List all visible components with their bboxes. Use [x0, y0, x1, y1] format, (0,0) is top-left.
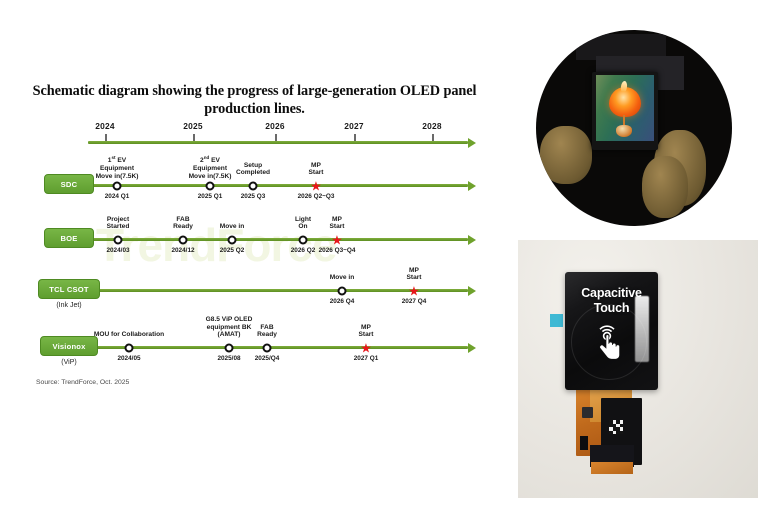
milestone-top-label: ProjectStarted — [107, 216, 130, 231]
right-hand-front — [642, 156, 688, 218]
milestone-dot-marker[interactable] — [179, 235, 188, 244]
row-axis-arrow — [468, 235, 476, 245]
source-note: Source: TrendForce, Oct. 2025 — [36, 379, 129, 386]
year-label: 2026 — [265, 121, 284, 131]
company-label-sdc[interactable]: SDC — [44, 174, 94, 194]
milestone-top-label: MPStart — [308, 162, 323, 177]
year-label: 2028 — [422, 121, 441, 131]
milestone-bottom-label: 2027 Q1 — [354, 355, 379, 362]
capacitive-touch-line1: Capacitive — [581, 286, 642, 300]
milestone-bottom-label: 2025/08 — [217, 355, 240, 362]
milestone-top-label: 2nd EVEquipmentMove in(7.5K) — [189, 154, 232, 180]
year-tick — [193, 134, 195, 141]
year-axis-arrow — [468, 138, 476, 148]
milestone-bottom-label: 2025/Q4 — [255, 355, 280, 362]
touch-display-screen: Capacitive Touch — [565, 272, 658, 390]
flex-pcb-bottom — [591, 462, 633, 474]
year-label: 2027 — [344, 121, 363, 131]
company-label-visionox[interactable]: Visionox — [40, 336, 98, 356]
milestone-dot-marker[interactable] — [299, 235, 308, 244]
bulb-base — [616, 125, 632, 137]
oled-panel-photo — [518, 22, 758, 234]
row-axis-line — [88, 184, 468, 187]
year-tick — [275, 134, 277, 141]
schematic-panel: TrendForce Schematic diagram showing the… — [0, 0, 510, 512]
oled-photo-circle — [536, 30, 732, 226]
screen-glare — [635, 296, 649, 362]
milestone-bottom-label: 2025 Q1 — [198, 193, 223, 200]
milestone-top-label: MPStart — [406, 267, 421, 282]
company-label-tcl-csot[interactable]: TCL CSOT — [38, 279, 100, 299]
milestone-star-marker[interactable]: ★ — [310, 179, 323, 192]
milestone-bottom-label: 2026 Q4 — [330, 298, 355, 305]
company-sublabel: (ViP) — [61, 359, 76, 366]
row-axis-line — [88, 346, 468, 349]
year-tick — [354, 134, 356, 141]
milestone-top-label: G8.5 ViP OLEDequipment BK(AMAT) — [206, 316, 253, 339]
milestone-bottom-label: 2024/05 — [117, 355, 140, 362]
milestone-bottom-label: 2024/12 — [171, 247, 194, 254]
milestone-top-label: FABReady — [257, 324, 277, 339]
row-axis-arrow — [468, 343, 476, 353]
capacitive-touch-line2: Touch — [594, 301, 630, 315]
milestone-top-label: Move in — [220, 223, 245, 231]
row-axis-line — [88, 238, 468, 241]
year-tick — [432, 134, 434, 141]
qr-code-icon — [609, 420, 623, 434]
milestone-bottom-label: 2025 Q2 — [220, 247, 245, 254]
company-sublabel: (Ink Jet) — [56, 302, 81, 309]
row-axis-arrow — [468, 181, 476, 191]
year-label: 2025 — [183, 121, 202, 131]
milestone-dot-marker[interactable] — [125, 343, 134, 352]
row-axis-arrow — [468, 286, 476, 296]
blue-tab — [550, 314, 563, 327]
milestone-star-marker[interactable]: ★ — [408, 284, 421, 297]
milestone-top-label: LightOn — [295, 216, 311, 231]
milestone-dot-marker[interactable] — [228, 235, 237, 244]
driver-chip — [582, 407, 593, 418]
milestone-top-label: FABReady — [173, 216, 193, 231]
milestone-dot-marker[interactable] — [113, 181, 122, 190]
milestone-dot-marker[interactable] — [114, 235, 123, 244]
milestone-top-label: MPStart — [329, 216, 344, 231]
oled-display-module — [592, 72, 658, 150]
milestone-top-label: 1st EVEquipmentMove in(7.5K) — [96, 154, 139, 180]
year-tick — [105, 134, 107, 141]
milestone-star-marker[interactable]: ★ — [360, 341, 373, 354]
milestone-bottom-label: 2024 Q1 — [105, 193, 130, 200]
left-hand — [540, 126, 592, 184]
year-axis-line — [88, 141, 468, 144]
milestone-bottom-label: 2025 Q3 — [241, 193, 266, 200]
oled-screen-image — [596, 75, 654, 141]
milestone-dot-marker[interactable] — [225, 343, 234, 352]
year-label: 2024 — [95, 121, 114, 131]
milestone-top-label: Move in — [330, 274, 355, 282]
milestone-dot-marker[interactable] — [206, 181, 215, 190]
milestone-top-label: SetupCompleted — [236, 162, 270, 177]
milestone-dot-marker[interactable] — [263, 343, 272, 352]
milestone-bottom-label: 2024/03 — [106, 247, 129, 254]
milestone-star-marker[interactable]: ★ — [331, 233, 344, 246]
milestone-dot-marker[interactable] — [338, 286, 347, 295]
touch-hand-icon — [594, 324, 626, 364]
connector-pad — [580, 436, 588, 450]
milestone-bottom-label: 2027 Q4 — [402, 298, 427, 305]
milestone-bottom-label: 2026 Q2~Q3 — [298, 193, 335, 200]
company-label-boe[interactable]: BOE — [44, 228, 94, 248]
milestone-dot-marker[interactable] — [249, 181, 258, 190]
capacitive-touch-photo: Capacitive Touch — [518, 240, 758, 498]
milestone-top-label: MPStart — [358, 324, 373, 339]
milestone-bottom-label: 2026 Q3~Q4 — [319, 247, 356, 254]
milestone-bottom-label: 2026 Q2 — [291, 247, 316, 254]
timeline-chart: 20242025202620272028SDC1st EVEquipmentMo… — [0, 0, 510, 512]
milestone-top-label: MOU for Collaboration — [94, 331, 164, 339]
